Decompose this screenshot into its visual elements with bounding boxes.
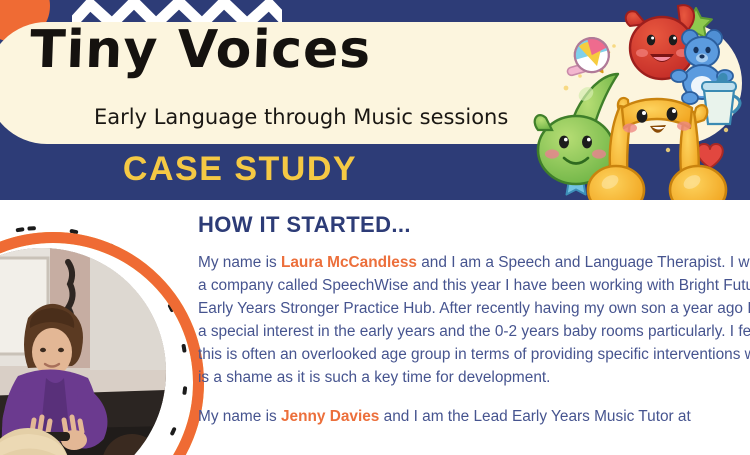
article-content: HOW IT STARTED... My name is Laura McCan… [198, 214, 750, 445]
section-heading: HOW IT STARTED... [198, 214, 750, 236]
text-run: My name is [198, 254, 281, 271]
highlight-name-laura: Laura McCandless [281, 254, 417, 271]
paragraph-laura: My name is Laura McCandless and I am a S… [198, 252, 750, 390]
paragraph-jenny: My name is Jenny Davies and I am the Lea… [198, 406, 750, 429]
document-body: HOW IT STARTED... My name is Laura McCan… [0, 200, 750, 455]
document-header: Tiny Voices Early Language through Music… [0, 0, 750, 200]
text-run: and I am the Lead Early Years Music Tuto… [379, 408, 690, 425]
page-title: Tiny Voices [29, 24, 372, 76]
text-run: My name is [198, 408, 281, 425]
text-run: and I am a Speech and Language Therapist… [198, 254, 750, 386]
case-study-label: CASE STUDY [0, 152, 480, 186]
photo-decoration-group [0, 222, 192, 455]
highlight-name-jenny: Jenny Davies [281, 408, 379, 425]
case-study-page: Tiny Voices Early Language through Music… [0, 0, 750, 455]
page-subtitle: Early Language through Music sessions [94, 107, 508, 128]
